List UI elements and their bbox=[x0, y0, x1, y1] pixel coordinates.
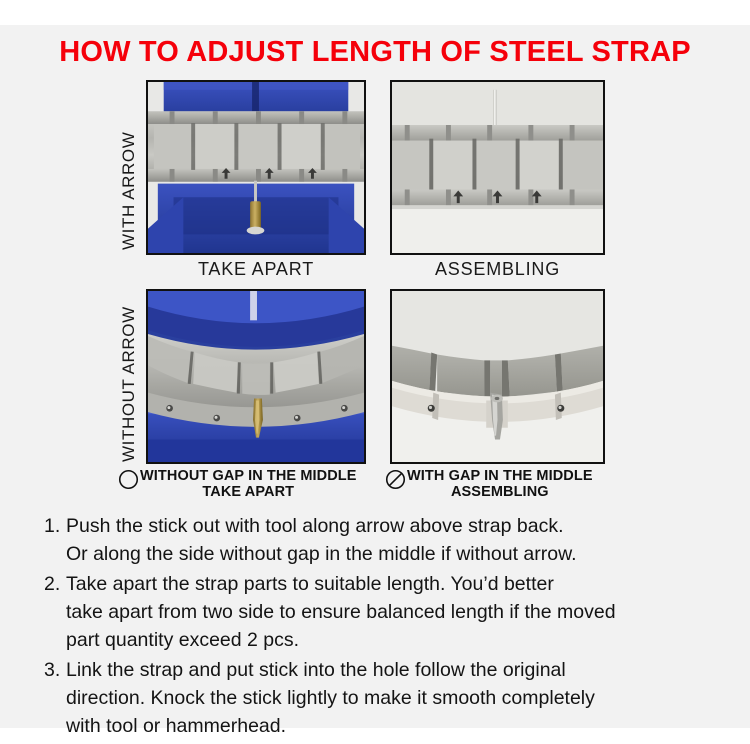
instruction-text: Take apart the strap parts to suitable l… bbox=[66, 571, 724, 654]
page-title: HOW TO ADJUST LENGTH OF STEEL STRAP bbox=[0, 36, 750, 69]
strap-on-blue-tool-illustration bbox=[148, 82, 364, 253]
strap-angled-gap-illustration bbox=[392, 291, 603, 462]
instructions-list: 1. Push the stick out with tool along ar… bbox=[44, 513, 724, 744]
circle-icon bbox=[118, 469, 139, 490]
instruction-line: with tool or hammerhead. bbox=[66, 713, 724, 741]
instruction-line: Take apart the strap parts to suitable l… bbox=[66, 571, 724, 599]
strap-assembling-illustration bbox=[392, 82, 603, 253]
instruction-number: 2. bbox=[44, 571, 66, 599]
caption-take-apart: TAKE APART bbox=[146, 259, 366, 280]
instruction-item: 1. Push the stick out with tool along ar… bbox=[44, 513, 724, 568]
instruction-text: Link the strap and put stick into the ho… bbox=[66, 657, 724, 740]
circle-slash-icon bbox=[385, 469, 406, 490]
instruction-number: 1. bbox=[44, 513, 66, 541]
photo-panel-take-apart-with-arrow bbox=[146, 80, 366, 255]
photo-panel-assembling-with-arrow bbox=[390, 80, 605, 255]
caption-without-gap-line2: TAKE APART bbox=[140, 484, 357, 500]
row-label-without-arrow: WITHOUT ARROW bbox=[119, 306, 139, 462]
instruction-item: 3. Link the strap and put stick into the… bbox=[44, 657, 724, 740]
instruction-item: 2. Take apart the strap parts to suitabl… bbox=[44, 571, 724, 654]
caption-without-gap-line1: WITHOUT GAP IN THE MIDDLE bbox=[140, 468, 357, 484]
instruction-line: part quantity exceed 2 pcs. bbox=[66, 627, 724, 655]
strap-angled-on-blue-tool-illustration bbox=[148, 291, 364, 462]
caption-with-gap-group: WITH GAP IN THE MIDDLE ASSEMBLING bbox=[385, 468, 593, 500]
instruction-line: Or along the side without gap in the mid… bbox=[66, 541, 724, 569]
photo-panel-take-apart-without-arrow bbox=[146, 289, 366, 464]
caption-assembling: ASSEMBLING bbox=[390, 259, 605, 280]
instruction-text: Push the stick out with tool along arrow… bbox=[66, 513, 724, 568]
instruction-line: take apart from two side to ensure balan… bbox=[66, 599, 724, 627]
instruction-sheet: HOW TO ADJUST LENGTH OF STEEL STRAP WITH… bbox=[0, 0, 750, 728]
caption-with-gap-line1: WITH GAP IN THE MIDDLE bbox=[407, 468, 593, 484]
top-white-strip bbox=[0, 0, 750, 25]
instruction-line: Push the stick out with tool along arrow… bbox=[66, 513, 724, 541]
photo-panel-assembling-without-arrow bbox=[390, 289, 605, 464]
instruction-number: 3. bbox=[44, 657, 66, 685]
caption-without-gap-group: WITHOUT GAP IN THE MIDDLE TAKE APART bbox=[118, 468, 357, 500]
caption-with-gap-line2: ASSEMBLING bbox=[407, 484, 593, 500]
row-label-with-arrow: WITH ARROW bbox=[119, 132, 139, 250]
instruction-line: direction. Knock the stick lightly to ma… bbox=[66, 685, 724, 713]
instruction-line: Link the strap and put stick into the ho… bbox=[66, 657, 724, 685]
